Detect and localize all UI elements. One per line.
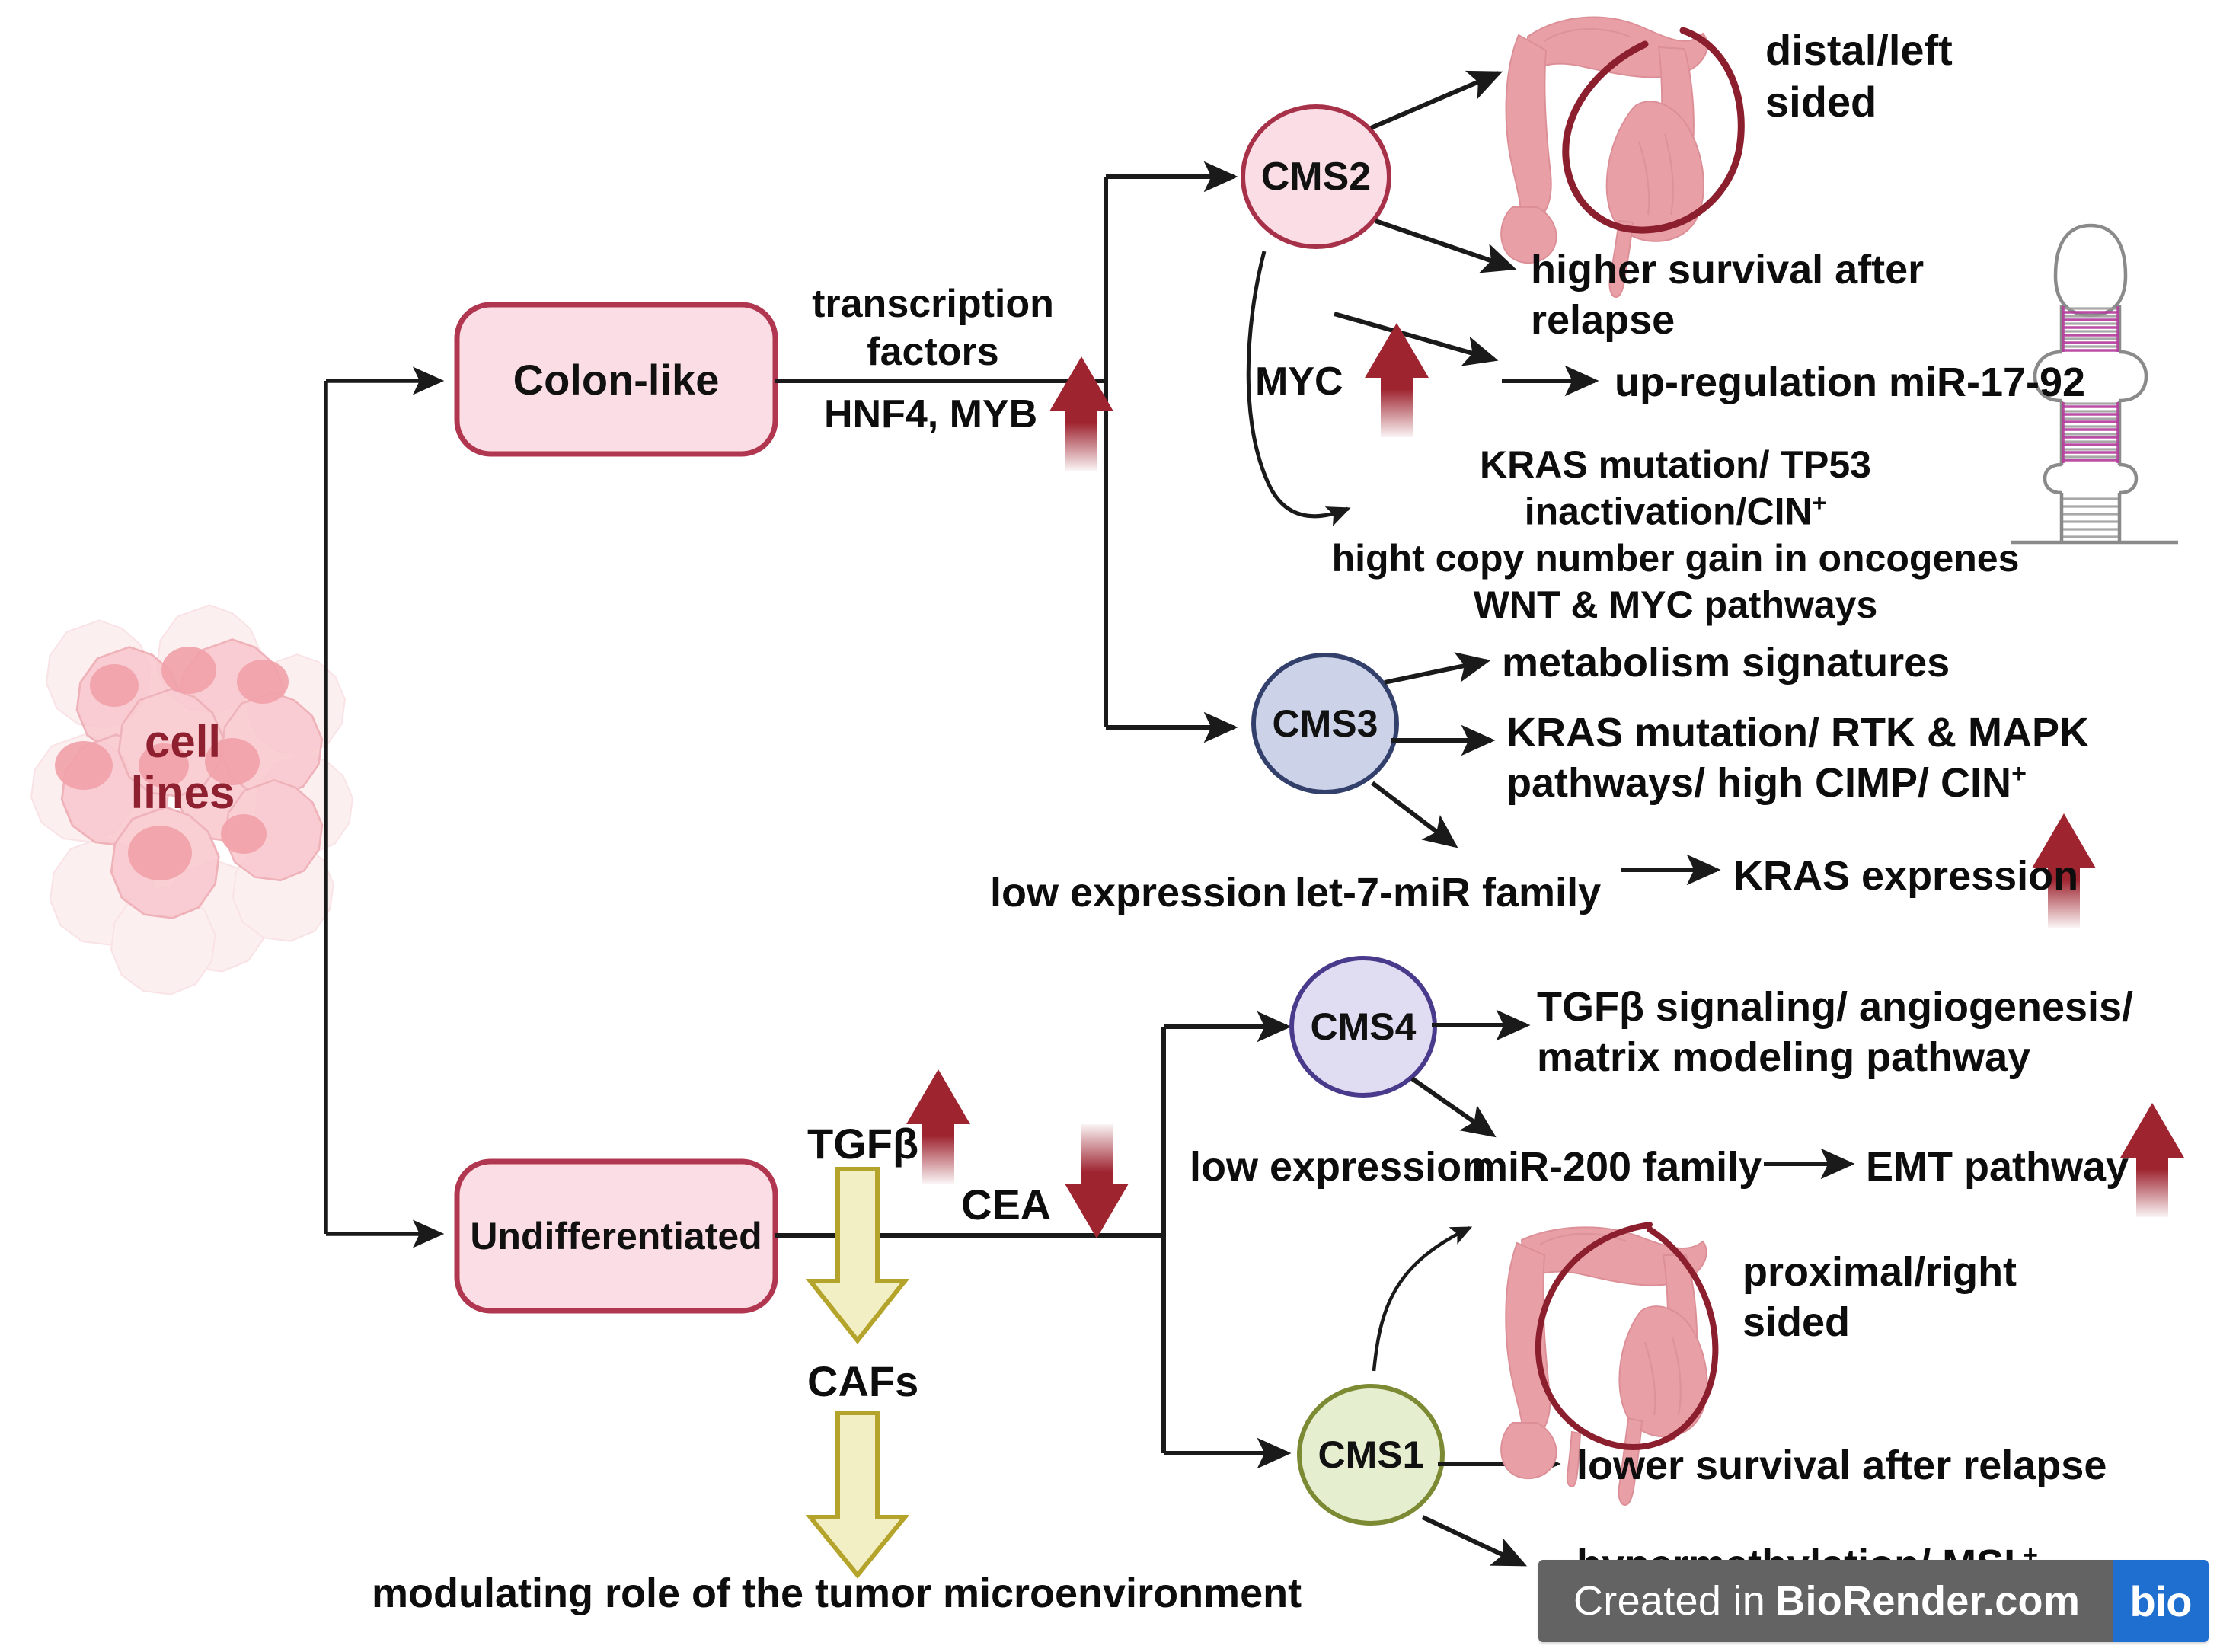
cms1-to-colon-curved-arrow [1374,1228,1470,1371]
cms2-genomics-line3: WNT & MYC pathways [1474,583,1878,626]
biorender-badge[interactable]: Created in BioRender.com bio [1538,1560,2209,1642]
cms2-survival-line1: higher survival after [1531,247,1924,292]
cms3-output-low-expression: low expression [990,868,1287,919]
cms4-output-mir200: miR-200 family [1471,1142,1762,1193]
transcription-factors-line2: factors [867,330,998,374]
cms2-genomics-line1-sup: + [1813,489,1827,516]
colonlike-branch-connector [775,177,1234,727]
edge-label-hnf4-myb: HNF4, MYB [824,391,1037,439]
edge-label-cafs: CAFs [807,1356,918,1408]
cms1-output-arrows [1423,1464,1557,1564]
cms4-output-emt: EMT pathway [1866,1142,2129,1193]
diagram-canvas: cell lines Colon-like Undifferentiated C… [0,0,2220,1652]
cms2-output-distal: distal/left sided [1765,24,1953,129]
down-arrow-icon-cafs-2 [810,1413,905,1575]
biorender-prefix: Created in [1573,1577,1765,1625]
cms2-output-genomics: KRAS mutation/ TP53 inactivation/CIN+ hi… [1325,442,2026,628]
phenotype-box-undifferentiated[interactable] [457,1162,775,1311]
cms2-genomics-line2: hight copy number gain in oncogenes [1332,537,2020,580]
cms4-output-signaling: TGFβ signaling/ angiogenesis/ matrix mod… [1537,983,2133,1083]
cms3-output-kras-expression: KRAS expression [1733,852,2078,902]
transcription-factors-line1: transcription [812,282,1054,326]
biorender-logo-icon: bio [2113,1560,2209,1642]
cms4-signaling-line2: matrix modeling pathway [1537,1034,2030,1080]
cms2-output-survival: higher survival after relapse [1531,245,1924,346]
cms-node-cms4[interactable] [1292,958,1435,1095]
edge-label-tgfb: TGFβ [807,1118,918,1170]
cms2-output-mir1792: up-regulation miR-17-92 [1615,358,2085,408]
microenvironment-caption: modulating role of the tumor microenviro… [372,1569,1302,1619]
cms2-distal-line2: sided [1765,78,1877,126]
cms1-proximal-line2: sided [1742,1299,1850,1345]
cms1-output-survival: lower survival after relapse [1576,1441,2107,1491]
phenotype-box-colon-like[interactable] [457,305,775,454]
cms3-output-pathways: KRAS mutation/ RTK & MAPK pathways/ high… [1506,708,2089,809]
cms3-pathways-line2: pathways/ high CIMP/ CIN [1506,760,2011,806]
cms-node-cms3[interactable] [1254,655,1397,792]
up-arrow-icon-emt [2120,1103,2184,1217]
biorender-brand: BioRender.com [1775,1577,2080,1625]
cms-node-cms1[interactable] [1299,1386,1442,1523]
cms2-survival-line2: relapse [1531,297,1675,343]
down-arrow-icon-cafs-1 [810,1169,905,1340]
down-arrow-icon-cea [1065,1124,1129,1238]
cms2-distal-line1: distal/left [1765,26,1953,74]
edge-label-myc: MYC [1255,358,1343,406]
cms2-genomics-line1: KRAS mutation/ TP53 inactivation/CIN [1480,443,1871,533]
edge-label-transcription-factors: transcription factors [807,280,1059,377]
cms3-pathways-line2-sup: + [2011,759,2027,788]
cell-cluster-icon [31,606,353,995]
cms3-output-let7: let-7-miR family [1295,868,1601,919]
cms1-proximal-line1: proximal/right [1742,1249,2017,1295]
cms1-output-proximal: proximal/right sided [1742,1248,2017,1348]
cms-node-cms2[interactable] [1243,107,1389,247]
biorender-text: Created in BioRender.com [1538,1560,2113,1642]
cms3-output-metabolism: metabolism signatures [1502,638,1950,689]
cms4-output-low-expression: low expression [1190,1142,1487,1193]
cms3-pathways-line1: KRAS mutation/ RTK & MAPK [1506,710,2089,756]
cms4-signaling-line1: TGFβ signaling/ angiogenesis/ [1537,984,2133,1030]
edge-label-cea: CEA [961,1179,1051,1231]
